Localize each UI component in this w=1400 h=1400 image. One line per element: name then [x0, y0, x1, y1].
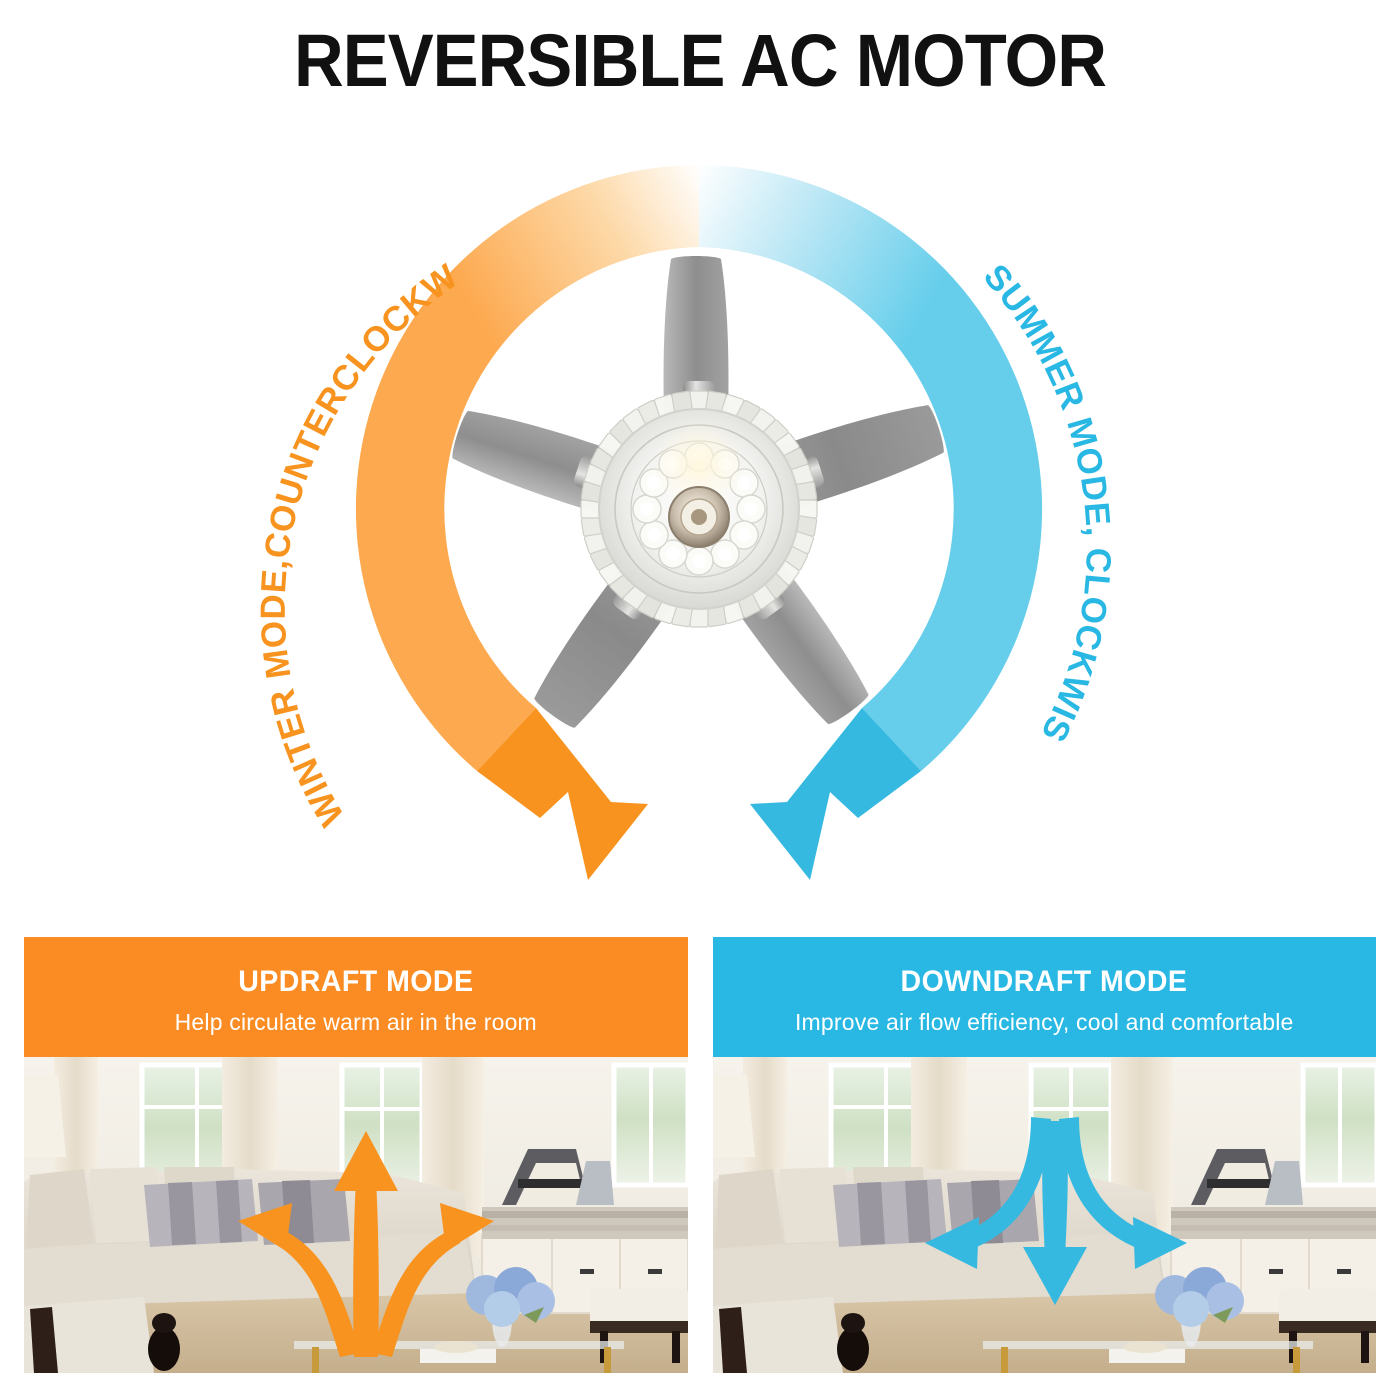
panel-downdraft: DOWNDRAFT MODE Improve air flow efficien…	[713, 937, 1377, 1373]
downdraft-subtitle: Improve air flow efficiency, cool and co…	[795, 1009, 1294, 1036]
downdraft-header: DOWNDRAFT MODE Improve air flow efficien…	[713, 937, 1377, 1057]
updraft-photo	[24, 1057, 688, 1373]
page-title: REVERSIBLE AC MOTOR	[49, 18, 1351, 103]
mode-panels: UPDRAFT MODE Help circulate warm air in …	[24, 937, 1376, 1373]
updraft-subtitle: Help circulate warm air in the room	[175, 1009, 537, 1036]
downdraft-title: DOWNDRAFT MODE	[901, 965, 1188, 999]
ceiling-fan	[447, 256, 948, 735]
arrow-up	[353, 1179, 379, 1357]
hero-diagram: WINTER MODE,COUNTERCLOCKWISE SUMMER MODE…	[0, 120, 1400, 910]
updraft-title: UPDRAFT MODE	[238, 965, 473, 999]
downdraft-photo	[713, 1057, 1377, 1373]
updraft-header: UPDRAFT MODE Help circulate warm air in …	[24, 937, 688, 1057]
panel-updraft: UPDRAFT MODE Help circulate warm air in …	[24, 937, 688, 1373]
